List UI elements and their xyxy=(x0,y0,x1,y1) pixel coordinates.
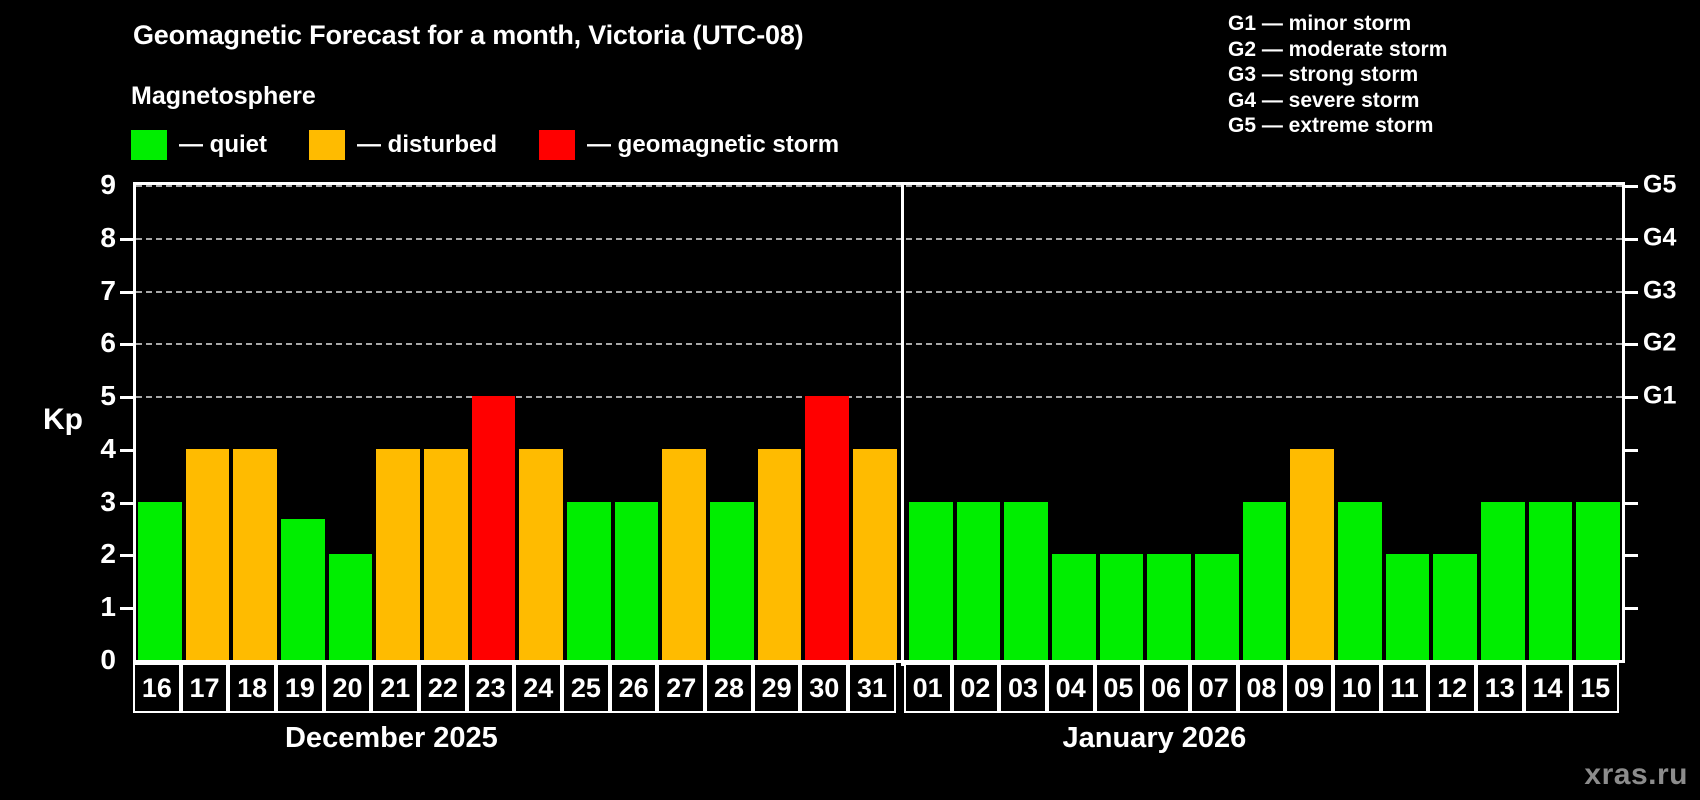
date-cell-26[interactable]: 26 xyxy=(610,663,658,713)
date-cell-17[interactable]: 17 xyxy=(181,663,229,713)
g-tick-mark-G1 xyxy=(1625,396,1638,399)
bar-26[interactable] xyxy=(615,502,659,660)
bar-29[interactable] xyxy=(758,449,802,660)
legend-entry-2: — geomagnetic storm xyxy=(539,130,881,160)
date-cell-11[interactable]: 11 xyxy=(1381,663,1429,713)
date-cell-06[interactable]: 06 xyxy=(1142,663,1190,713)
bar-14[interactable] xyxy=(1529,502,1573,660)
color-legend: — quiet— disturbed— geomagnetic storm xyxy=(131,130,881,160)
month-caption-2: January 2026 xyxy=(1063,722,1247,755)
date-cell-04[interactable]: 04 xyxy=(1047,663,1095,713)
bar-25[interactable] xyxy=(567,502,611,660)
g-legend-row-1: G1 — minor storm xyxy=(1228,11,1447,37)
g-tick-mark-G4 xyxy=(1625,238,1638,241)
y-tick-label-6: 6 xyxy=(76,327,116,359)
g-axis-minor-tick-2 xyxy=(1625,554,1638,557)
y-tick-label-8: 8 xyxy=(76,222,116,254)
g-axis-minor-tick-4 xyxy=(1625,449,1638,452)
bar-21[interactable] xyxy=(376,449,420,660)
date-cell-23[interactable]: 23 xyxy=(467,663,515,713)
y-tick-mark-5 xyxy=(120,396,133,399)
bar-05[interactable] xyxy=(1100,554,1144,660)
bar-27[interactable] xyxy=(662,449,706,660)
y-tick-mark-7 xyxy=(120,291,133,294)
date-cell-24[interactable]: 24 xyxy=(514,663,562,713)
g-scale-legend: G1 — minor stormG2 — moderate stormG3 — … xyxy=(1228,11,1447,139)
legend-label: — disturbed xyxy=(357,131,497,159)
page-title: Geomagnetic Forecast for a month, Victor… xyxy=(133,20,803,51)
bar-08[interactable] xyxy=(1243,502,1287,660)
bar-04[interactable] xyxy=(1052,554,1096,660)
plot-inner xyxy=(136,185,1622,660)
bar-20[interactable] xyxy=(329,554,373,660)
bar-16[interactable] xyxy=(138,502,182,660)
y-axis-title: Kp xyxy=(43,403,83,437)
date-cell-25[interactable]: 25 xyxy=(562,663,610,713)
y-tick-label-9: 9 xyxy=(76,169,116,201)
bar-01[interactable] xyxy=(909,502,953,660)
bar-11[interactable] xyxy=(1386,554,1430,660)
g-legend-row-3: G3 — strong storm xyxy=(1228,62,1447,88)
bar-10[interactable] xyxy=(1338,502,1382,660)
bar-31[interactable] xyxy=(853,449,897,660)
y-tick-label-3: 3 xyxy=(76,486,116,518)
g-tick-label-G3: G3 xyxy=(1643,276,1676,305)
month-caption-1: December 2025 xyxy=(285,722,498,755)
bar-30[interactable] xyxy=(805,396,849,660)
y-tick-mark-1 xyxy=(120,607,133,610)
g-tick-label-G1: G1 xyxy=(1643,382,1676,411)
y-tick-label-1: 1 xyxy=(76,591,116,623)
bar-15[interactable] xyxy=(1576,502,1620,660)
g-tick-mark-G2 xyxy=(1625,343,1638,346)
legend-label: — geomagnetic storm xyxy=(587,131,839,159)
bars-layer xyxy=(136,185,1622,660)
date-cell-27[interactable]: 27 xyxy=(657,663,705,713)
date-cell-16[interactable]: 16 xyxy=(133,663,181,713)
date-cell-22[interactable]: 22 xyxy=(419,663,467,713)
date-cell-10[interactable]: 10 xyxy=(1333,663,1381,713)
date-cell-28[interactable]: 28 xyxy=(705,663,753,713)
legend-swatch-icon xyxy=(309,130,345,160)
y-tick-label-7: 7 xyxy=(76,275,116,307)
g-tick-mark-G5 xyxy=(1625,185,1638,188)
bar-13[interactable] xyxy=(1481,502,1525,660)
date-cell-18[interactable]: 18 xyxy=(228,663,276,713)
date-cell-21[interactable]: 21 xyxy=(371,663,419,713)
date-cell-05[interactable]: 05 xyxy=(1095,663,1143,713)
legend-swatch-icon xyxy=(131,130,167,160)
month-divider xyxy=(901,182,904,666)
bar-23[interactable] xyxy=(472,396,516,660)
magnetosphere-label: Magnetosphere xyxy=(131,82,316,111)
date-cell-15[interactable]: 15 xyxy=(1571,663,1619,713)
date-cell-31[interactable]: 31 xyxy=(848,663,896,713)
date-cell-29[interactable]: 29 xyxy=(753,663,801,713)
g-axis-minor-tick-1 xyxy=(1625,607,1638,610)
date-cell-02[interactable]: 02 xyxy=(952,663,1000,713)
bar-12[interactable] xyxy=(1433,554,1477,660)
legend-entry-1: — disturbed xyxy=(309,130,539,160)
date-cell-12[interactable]: 12 xyxy=(1428,663,1476,713)
y-tick-label-2: 2 xyxy=(76,538,116,570)
date-cell-19[interactable]: 19 xyxy=(276,663,324,713)
g-tick-label-G2: G2 xyxy=(1643,329,1676,358)
plot-area xyxy=(133,182,1625,663)
g-tick-mark-G3 xyxy=(1625,291,1638,294)
legend-entry-0: — quiet xyxy=(131,130,309,160)
g-axis-minor-tick-3 xyxy=(1625,502,1638,505)
date-cell-01[interactable]: 01 xyxy=(904,663,952,713)
legend-swatch-icon xyxy=(539,130,575,160)
bar-19[interactable] xyxy=(281,519,325,660)
bar-03[interactable] xyxy=(1004,502,1048,660)
bar-07[interactable] xyxy=(1195,554,1239,660)
bar-22[interactable] xyxy=(424,449,468,660)
date-cell-07[interactable]: 07 xyxy=(1190,663,1238,713)
bar-17[interactable] xyxy=(186,449,230,660)
date-cell-30[interactable]: 30 xyxy=(800,663,848,713)
legend-label: — quiet xyxy=(179,131,267,159)
g-legend-row-4: G4 — severe storm xyxy=(1228,88,1447,114)
g-legend-row-2: G2 — moderate storm xyxy=(1228,37,1447,63)
date-cell-14[interactable]: 14 xyxy=(1524,663,1572,713)
bar-09[interactable] xyxy=(1290,449,1334,660)
date-cell-09[interactable]: 09 xyxy=(1285,663,1333,713)
y-tick-mark-6 xyxy=(120,343,133,346)
bar-24[interactable] xyxy=(519,449,563,660)
g-legend-row-5: G5 — extreme storm xyxy=(1228,113,1447,139)
y-tick-mark-2 xyxy=(120,554,133,557)
y-tick-mark-8 xyxy=(120,238,133,241)
y-tick-label-0: 0 xyxy=(76,644,116,676)
bar-02[interactable] xyxy=(957,502,1001,660)
bar-28[interactable] xyxy=(710,502,754,660)
y-tick-label-4: 4 xyxy=(76,433,116,465)
watermark: xras.ru xyxy=(1584,758,1688,792)
bar-06[interactable] xyxy=(1147,554,1191,660)
g-tick-label-G5: G5 xyxy=(1643,171,1676,200)
y-tick-mark-3 xyxy=(120,502,133,505)
date-cell-13[interactable]: 13 xyxy=(1476,663,1524,713)
g-tick-label-G4: G4 xyxy=(1643,223,1676,252)
date-cell-08[interactable]: 08 xyxy=(1238,663,1286,713)
date-cell-20[interactable]: 20 xyxy=(324,663,372,713)
date-axis: 1617181920212223242526272829303101020304… xyxy=(133,663,1625,713)
date-cell-03[interactable]: 03 xyxy=(999,663,1047,713)
y-tick-mark-4 xyxy=(120,449,133,452)
bar-18[interactable] xyxy=(233,449,277,660)
